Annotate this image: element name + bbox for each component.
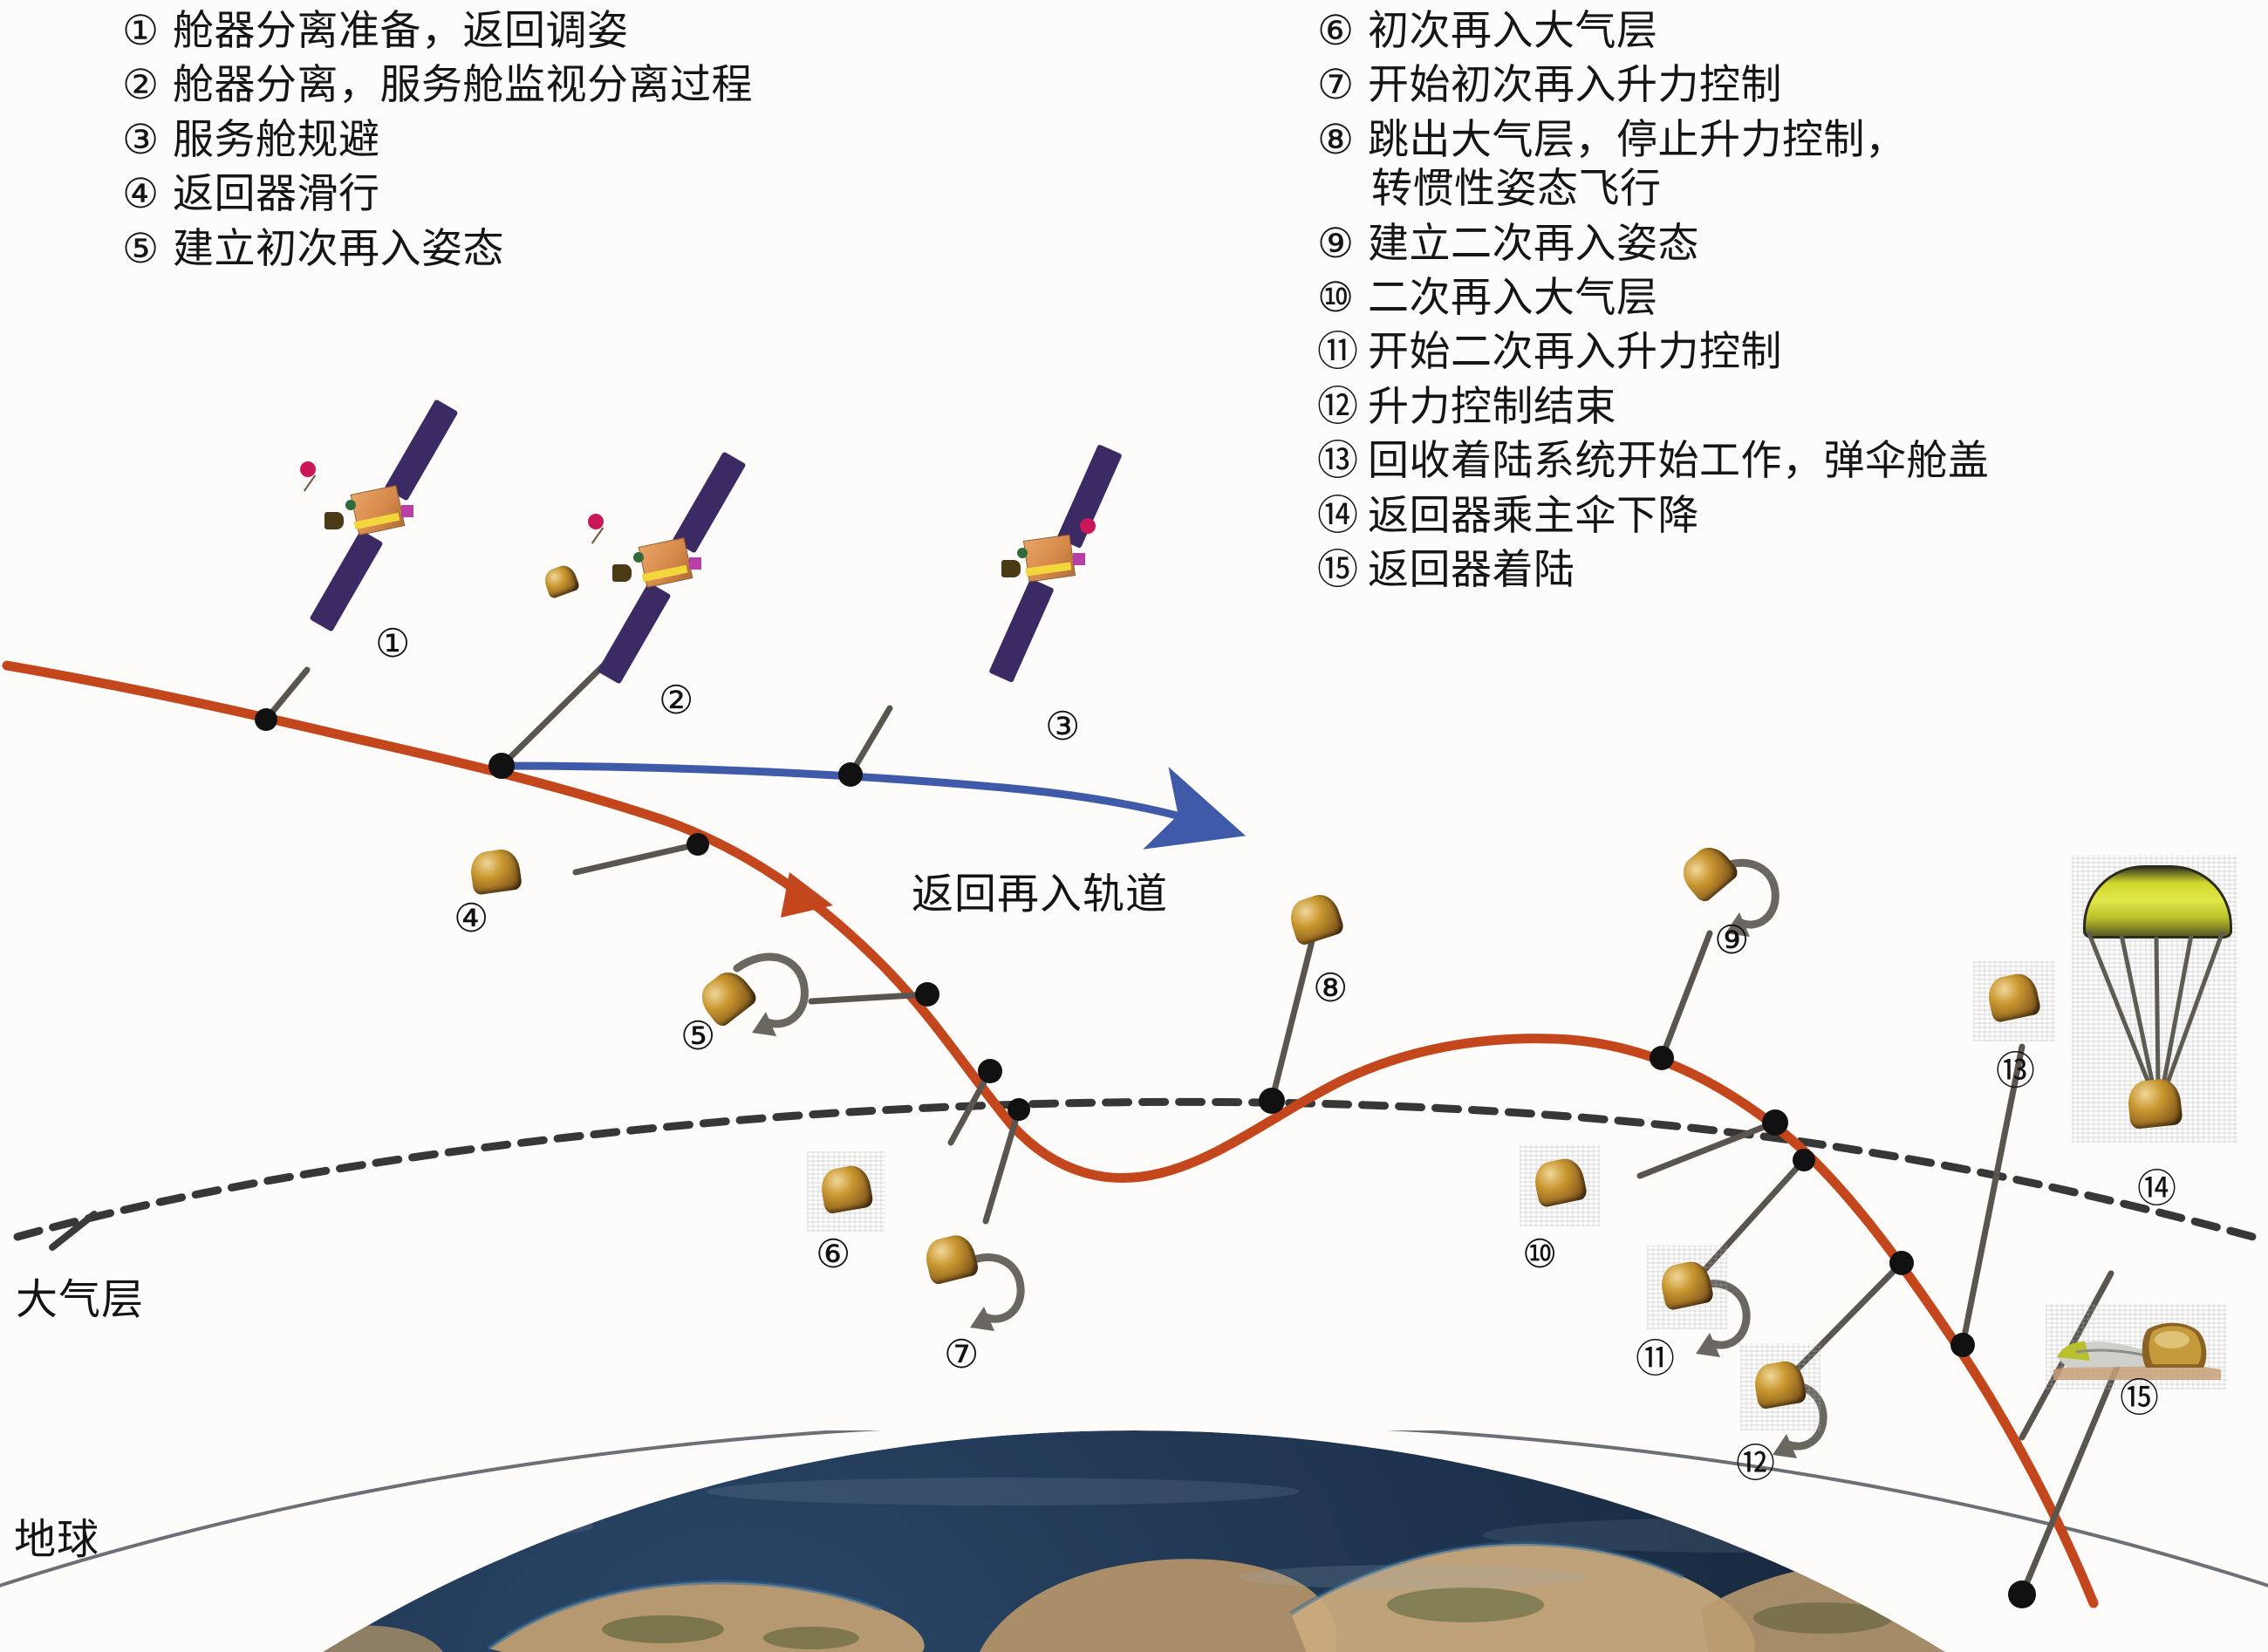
marker-1: ① <box>375 624 410 663</box>
marker-9: ⑨ <box>1714 920 1749 959</box>
label-atmosphere: 大气层 <box>16 1265 144 1326</box>
marker-10: ⑩ <box>1522 1234 1557 1273</box>
marker-12: ⑫ <box>1736 1444 1775 1483</box>
marker-14: ⑭ <box>2137 1169 2176 1208</box>
diagram-canvas: ① 舱器分离准备，返回调姿 ② 舱器分离，服务舱监视分离过程 ③ 服务舱规避 ④… <box>0 0 2268 1652</box>
label-reentry-orbit: 返回再入轨道 <box>912 859 1168 920</box>
parachute-icon-14 <box>2083 865 2231 1144</box>
marker-8: ⑧ <box>1313 968 1348 1007</box>
trajectory-layer <box>0 0 2268 1652</box>
marker-4: ④ <box>454 898 488 938</box>
marker-13: ⑬ <box>1996 1051 2035 1090</box>
marker-7: ⑦ <box>944 1335 979 1374</box>
marker-5: ⑤ <box>680 1016 715 1055</box>
marker-11: ⑪ <box>1636 1339 1675 1378</box>
label-earth: 地球 <box>14 1505 99 1566</box>
marker-3: ③ <box>1045 707 1080 746</box>
marker-2: ② <box>659 680 693 720</box>
atmosphere-boundary-line <box>17 1102 2259 1239</box>
marker-15: ⑮ <box>2120 1378 2159 1417</box>
marker-6: ⑥ <box>816 1234 850 1273</box>
